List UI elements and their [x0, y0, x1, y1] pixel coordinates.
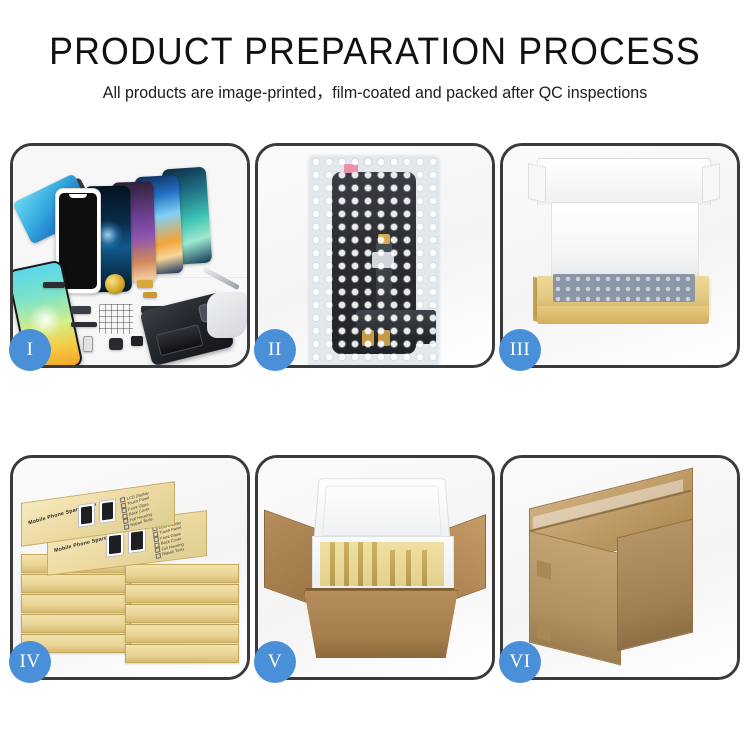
- speaker-module-part: [131, 336, 143, 346]
- carton-tab-lower: [537, 622, 551, 641]
- process-step-1[interactable]: I: [10, 143, 250, 368]
- process-step-4[interactable]: Mobile Phone Spare Parts LCD Display Tou…: [10, 455, 250, 680]
- carton-side-face: [617, 519, 693, 652]
- box-front-edge: [537, 306, 709, 324]
- pink-qc-label: [344, 164, 358, 173]
- speaker-coil-part: [105, 274, 125, 294]
- gold-contact-upper: [378, 234, 390, 244]
- step-5-image: [258, 458, 492, 677]
- page-title: PRODUCT PREPARATION PROCESS: [23, 30, 728, 74]
- gold-contact-part: [137, 280, 153, 288]
- lcd-screen-inside-bag: [332, 172, 416, 354]
- carton-body: [304, 590, 458, 658]
- process-step-5[interactable]: V: [255, 455, 495, 680]
- bubble-wrapped-contents: [553, 274, 695, 302]
- white-foam-sheet: [551, 202, 699, 278]
- page-subtitle: All products are image-printed，film-coat…: [11, 82, 739, 104]
- gold-clip-part: [143, 292, 157, 298]
- process-step-grid: I II: [10, 143, 740, 738]
- carton-front-face: [529, 531, 621, 666]
- step-badge-3: III: [499, 329, 541, 371]
- connector-part: [71, 306, 91, 314]
- technician-hand: [207, 292, 247, 338]
- bubble-wrap-bag: [310, 156, 438, 365]
- camera-module-part: [109, 338, 123, 350]
- page-header: PRODUCT PREPARATION PROCESS All products…: [0, 0, 750, 104]
- step-3-image: [503, 146, 737, 365]
- process-step-6[interactable]: VI: [500, 455, 740, 680]
- step-1-image: [13, 146, 247, 365]
- step-badge-6: VI: [499, 641, 541, 683]
- step-2-image: [258, 146, 492, 365]
- foam-lid: [313, 478, 451, 544]
- sim-tray-part: [83, 336, 93, 352]
- carton-tab-upper: [537, 560, 551, 579]
- step-4-image: Mobile Phone Spare Parts LCD Display Tou…: [13, 458, 247, 677]
- flex-cable-part: [43, 282, 65, 288]
- step-badge-2: II: [254, 329, 296, 371]
- box-lid-open: [537, 158, 711, 205]
- box-label-checklist-back: LCD Display Touch Panel Front Glass Back…: [120, 490, 153, 530]
- gold-contact-right: [378, 330, 390, 346]
- process-step-2[interactable]: II: [255, 143, 495, 368]
- gold-boxes-inside-carton: [320, 542, 444, 586]
- step-badge-4: IV: [9, 641, 51, 683]
- screw-tray-part: [99, 304, 133, 334]
- antenna-cable-part: [71, 322, 97, 327]
- process-step-3[interactable]: III: [500, 143, 740, 368]
- screen-connector: [372, 252, 394, 268]
- step-6-image: [503, 458, 737, 677]
- step-badge-5: V: [254, 641, 296, 683]
- gold-contact-left: [362, 330, 374, 346]
- step-badge-1: I: [9, 329, 51, 371]
